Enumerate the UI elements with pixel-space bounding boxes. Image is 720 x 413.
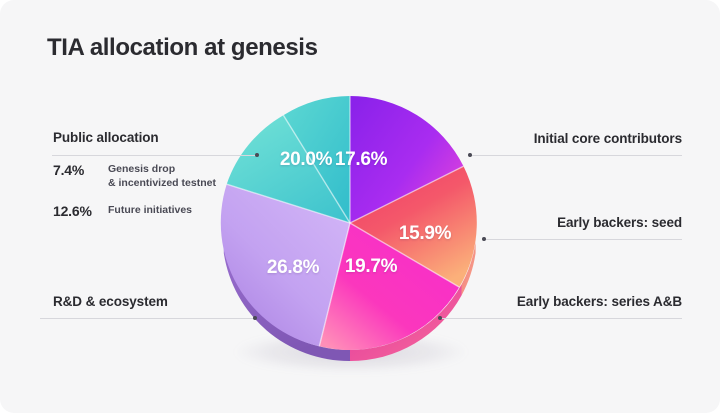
legend-sub-item-future-initiatives: 12.6% Future initiatives — [53, 203, 192, 219]
pie-chart: 17.6% 15.9% 19.7% 26.8% 20.0% — [213, 88, 487, 378]
chart-card: TIA allocation at genesis — [0, 0, 720, 413]
legend-label-public-allocation: Public allocation — [53, 130, 159, 145]
slice-label-initial-core-contributors: 17.6% — [335, 149, 387, 171]
legend-label-initial-core-contributors: Initial core contributors — [534, 131, 682, 146]
legend-sub-item-genesis-drop: 7.4% Genesis drop & incentivized testnet — [53, 162, 216, 190]
sub-item-percent-future-initiatives: 12.6% — [53, 203, 99, 219]
slice-label-early-backers-series-ab: 19.7% — [345, 256, 397, 278]
legend-label-rd-ecosystem: R&D & ecosystem — [53, 294, 168, 309]
slice-label-early-backers-seed: 15.9% — [399, 223, 451, 245]
leader-dot-rd-ecosystem — [253, 316, 257, 320]
slice-label-public-allocation: 20.0% — [280, 149, 332, 171]
leader-line-early-backers-series-ab — [440, 318, 682, 319]
leader-line-rd-ecosystem — [40, 318, 255, 319]
legend-label-early-backers-seed: Early backers: seed — [557, 215, 682, 230]
leader-dot-initial-core-contributors — [468, 153, 472, 157]
sub-item-description-future-initiatives: Future initiatives — [108, 203, 192, 217]
leader-dot-public-allocation — [255, 153, 259, 157]
leader-line-early-backers-seed — [484, 239, 682, 240]
slice-label-rd-ecosystem: 26.8% — [267, 257, 319, 279]
leader-line-initial-core-contributors — [470, 155, 682, 156]
sub-item-percent-genesis-drop: 7.4% — [53, 162, 99, 178]
leader-dot-early-backers-seed — [482, 237, 486, 241]
legend-label-early-backers-series-ab: Early backers: series A&B — [517, 294, 682, 309]
page-title: TIA allocation at genesis — [47, 34, 318, 62]
sub-item-description-genesis-drop: Genesis drop & incentivized testnet — [108, 162, 216, 190]
leader-line-public-allocation — [52, 155, 257, 156]
leader-dot-early-backers-series-ab — [438, 316, 442, 320]
